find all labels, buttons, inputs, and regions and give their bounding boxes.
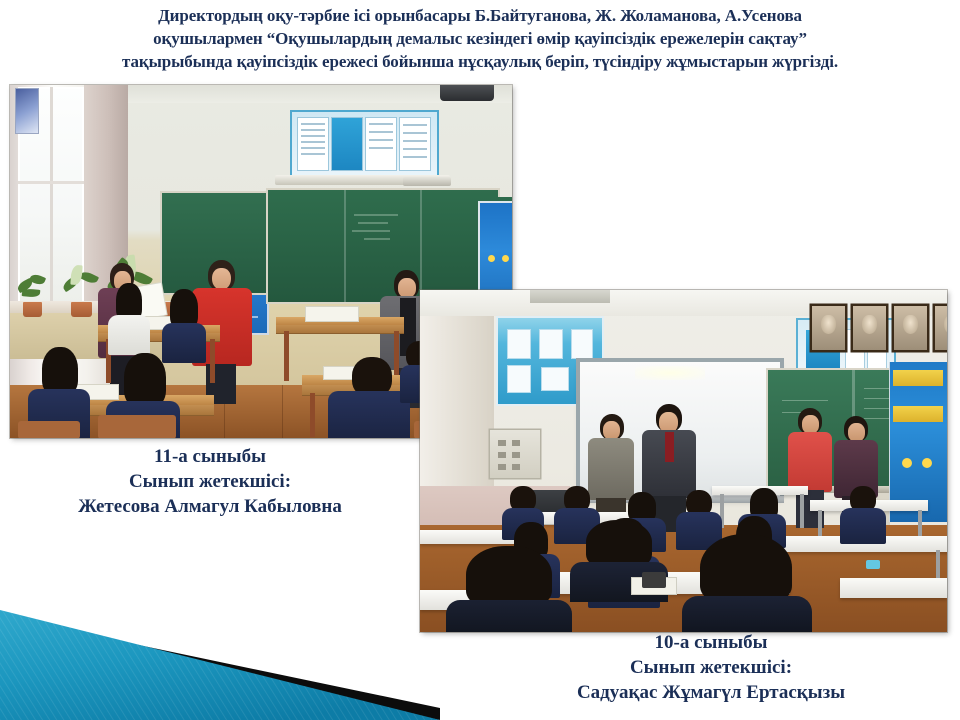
projector-glare xyxy=(635,366,705,380)
wall-picture xyxy=(16,89,38,133)
caption-class-10a: 10-а сыныбы Сынып жетекшісі: Садуақас Жұ… xyxy=(476,630,946,705)
info-stand-blue xyxy=(890,362,947,522)
ceiling-vent xyxy=(530,290,610,303)
slide-canvas: Директордың оқу-тәрбие ісі орынбасары Б.… xyxy=(0,0,960,720)
caption2-line-2: Сынып жетекшісі: xyxy=(476,655,946,680)
corner-teal-texture xyxy=(0,610,440,720)
slide-title-line-2: оқушылармен “Оқушылардың демалыс кезінде… xyxy=(14,27,946,50)
potted-plant xyxy=(16,271,50,317)
corner-pale-stripe xyxy=(0,642,440,720)
corner-decoration xyxy=(0,596,440,720)
caption1-line-1: 11-а сыныбы xyxy=(0,444,420,469)
student-seated xyxy=(328,357,410,438)
student-seated xyxy=(106,283,152,351)
eraser-on-desk xyxy=(866,560,880,569)
student-foreground xyxy=(446,546,572,632)
framed-portrait xyxy=(812,306,845,350)
corner-black-stripe xyxy=(0,616,440,720)
framed-portrait xyxy=(894,306,927,350)
student-seated xyxy=(162,289,206,359)
potted-plant xyxy=(62,263,102,317)
open-notebook xyxy=(306,307,358,321)
state-symbols-poster xyxy=(292,112,437,176)
caption2-line-3: Садуақас Жұмагүл Ертасқызы xyxy=(476,680,946,705)
projector xyxy=(440,85,494,101)
chalk-rail-secondary xyxy=(403,177,451,186)
corner-teal-triangle xyxy=(0,610,440,720)
slide-title-line-1: Директордың оқу-тәрбие ісі орынбасары Б.… xyxy=(14,4,946,27)
chair xyxy=(18,421,80,438)
chair xyxy=(98,415,176,438)
window-frame-vertical xyxy=(50,87,53,312)
caption2-line-1: 10-а сыныбы xyxy=(476,630,946,655)
caption1-line-2: Сынып жетекшісі: xyxy=(0,469,420,494)
desk-leg xyxy=(210,339,215,383)
desk-leg xyxy=(800,494,804,528)
caption1-line-3: Жетесова Алмагул Кабыловна xyxy=(0,494,420,519)
portrait-gallery xyxy=(812,306,947,358)
phone-on-desk xyxy=(642,572,666,588)
framed-portrait xyxy=(853,306,886,350)
slide-title-line-3: тақырыбында қауіпсіздік ережесі бойынша … xyxy=(14,50,946,73)
student-desk xyxy=(840,578,947,598)
photo-classroom-10a xyxy=(420,290,947,632)
desk-leg xyxy=(284,331,289,381)
electrical-panel xyxy=(490,430,540,478)
caption-class-11a: 11-а сыныбы Сынып жетекшісі: Жетесова Ал… xyxy=(0,444,420,519)
slide-title: Директордың оқу-тәрбие ісі орынбасары Б.… xyxy=(0,4,960,73)
desk-leg xyxy=(310,393,315,437)
framed-portrait xyxy=(935,306,947,350)
student-foreground xyxy=(682,534,812,632)
student-seated xyxy=(840,486,886,542)
window-frame-horizontal xyxy=(18,181,84,184)
